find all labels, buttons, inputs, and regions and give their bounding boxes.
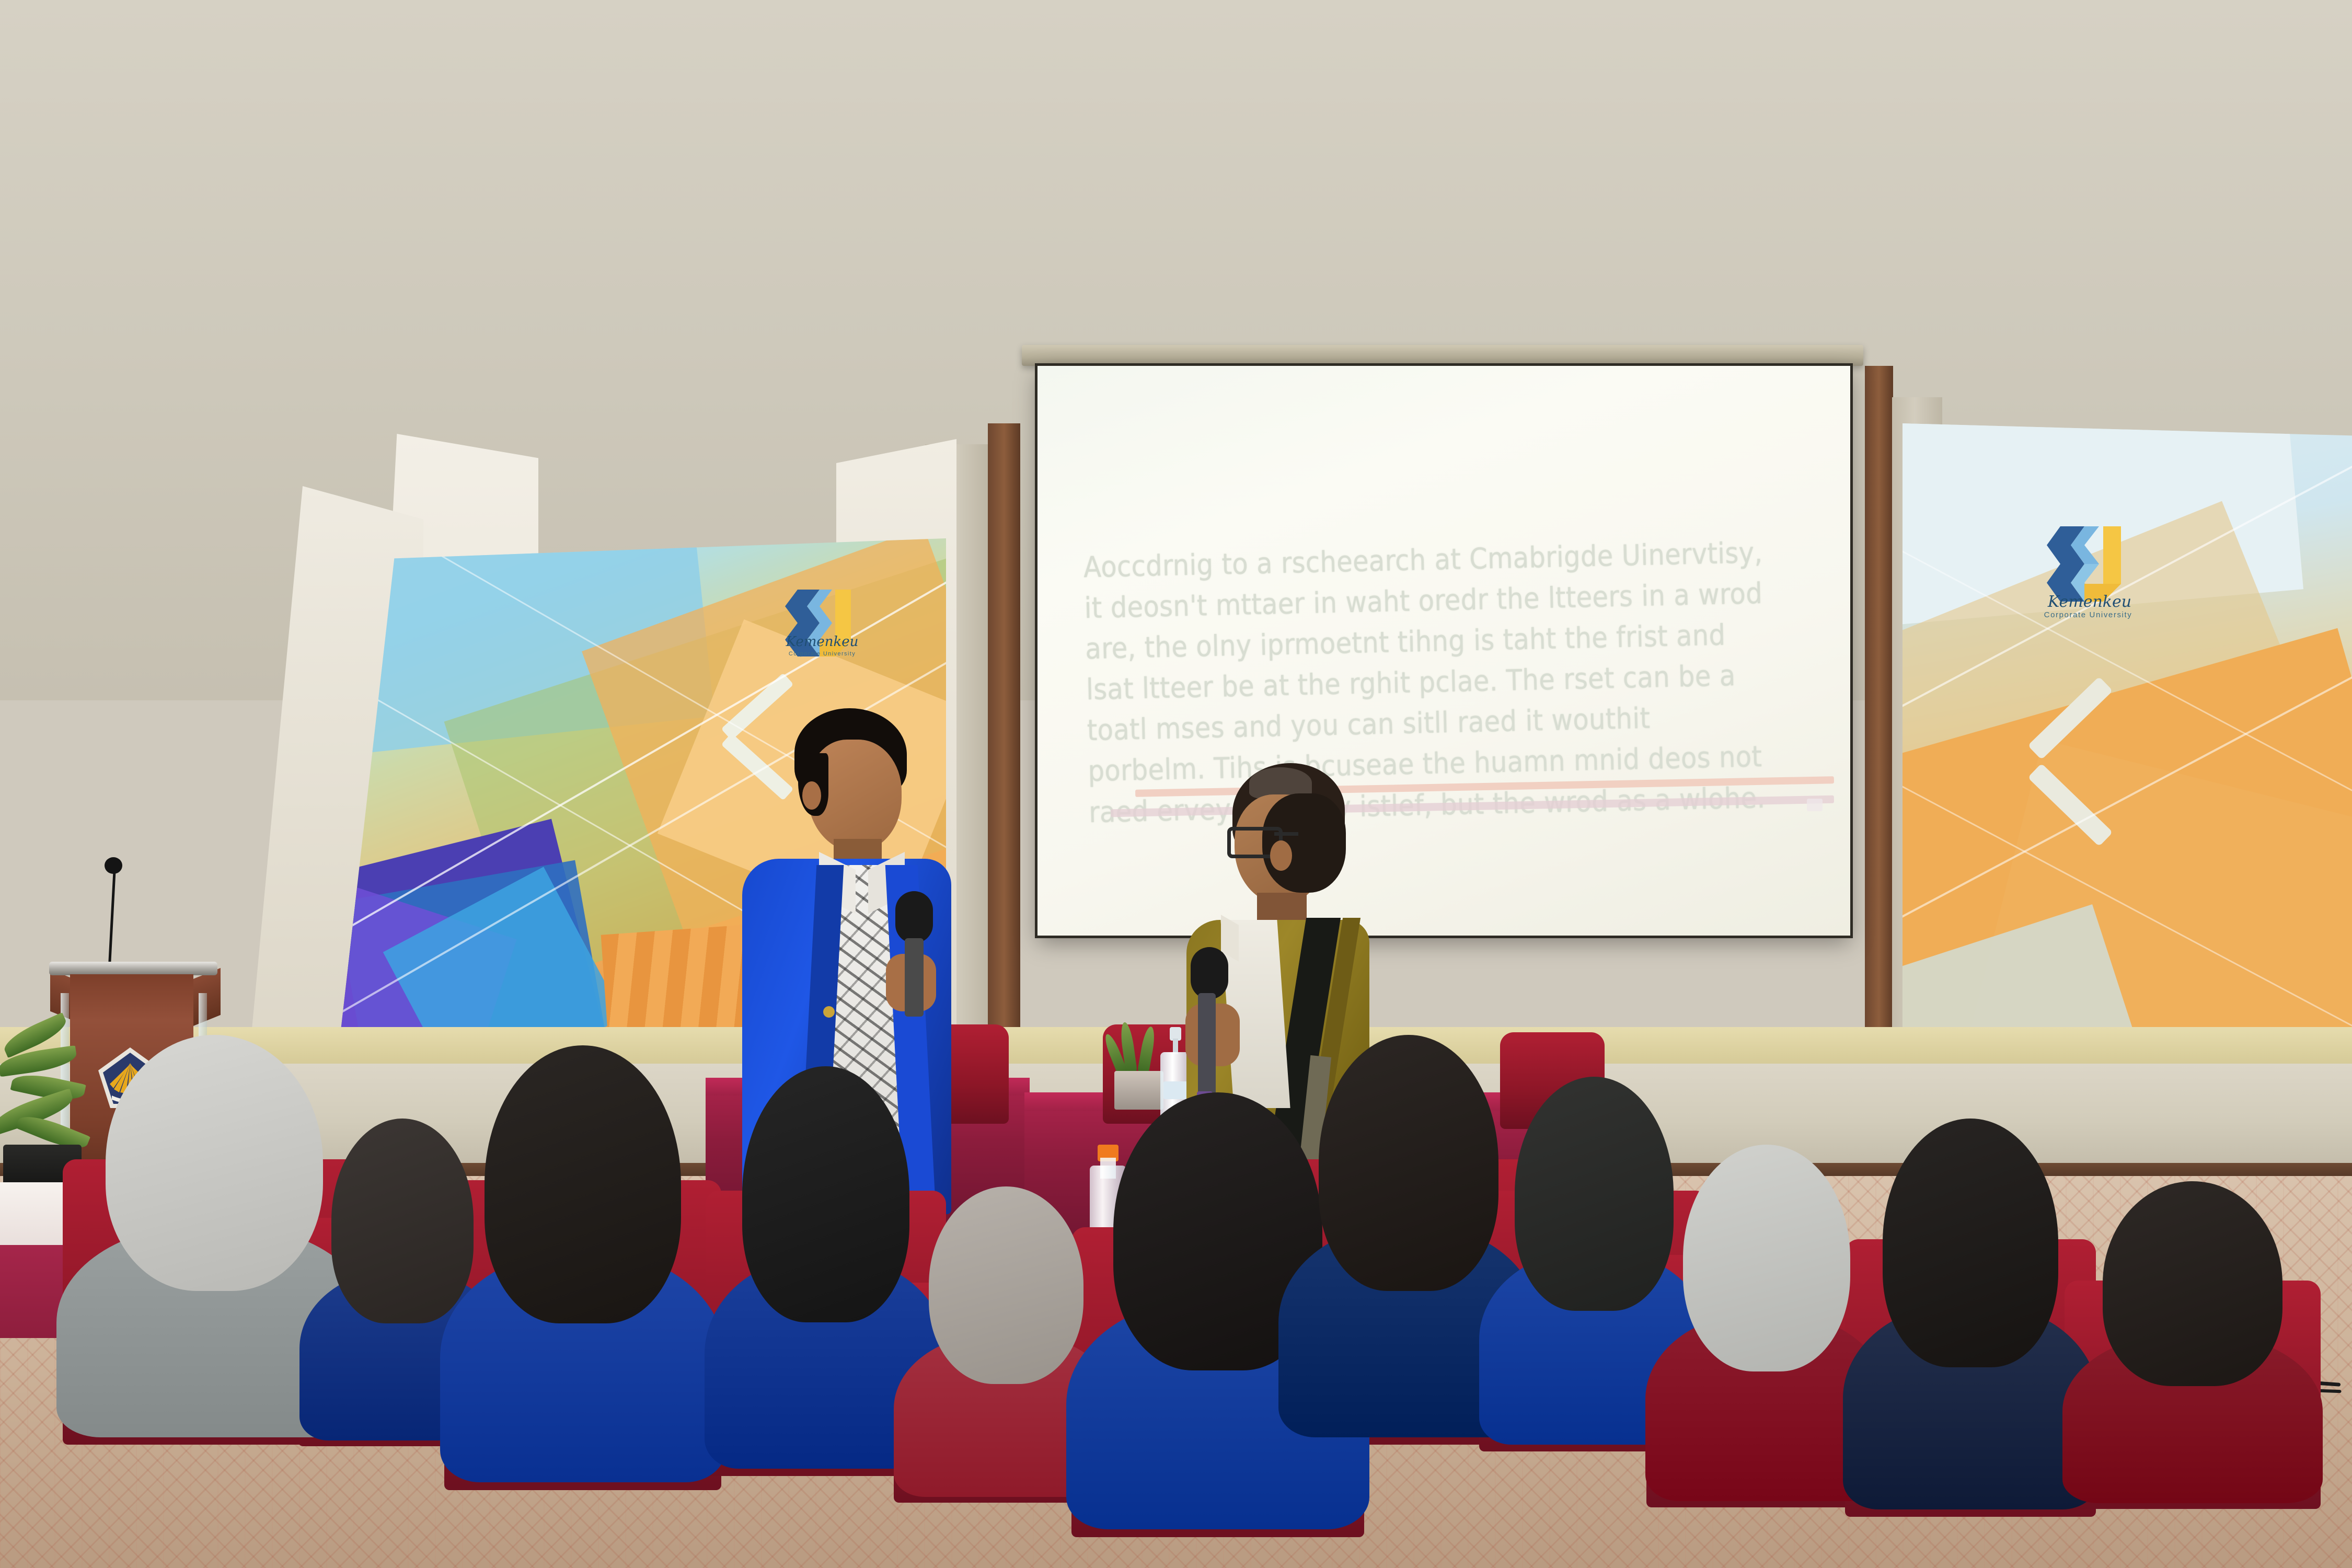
audience-member [460, 1045, 706, 1443]
audience-member [721, 1066, 930, 1432]
audience-member [2080, 1181, 2305, 1474]
audience-rows [0, 0, 2352, 1568]
audience-member-hair [1883, 1119, 2058, 1367]
audience-member-hair [331, 1119, 474, 1323]
audience-member [1662, 1145, 1871, 1469]
audience-member-hijab [929, 1186, 1083, 1384]
audience-member-hijab [106, 1035, 323, 1291]
audience-member-hair [742, 1066, 909, 1322]
conference-photo-scene: Kemenkeu Corporate University Kemenkeu [0, 0, 2352, 1568]
audience-member-hair [485, 1045, 681, 1323]
audience-member [1861, 1119, 2080, 1474]
audience-member-hair [1515, 1077, 1674, 1311]
audience-member-hijab [1683, 1145, 1850, 1371]
audience-member-hair [1319, 1035, 1498, 1291]
audience-member-hair [2103, 1181, 2282, 1386]
